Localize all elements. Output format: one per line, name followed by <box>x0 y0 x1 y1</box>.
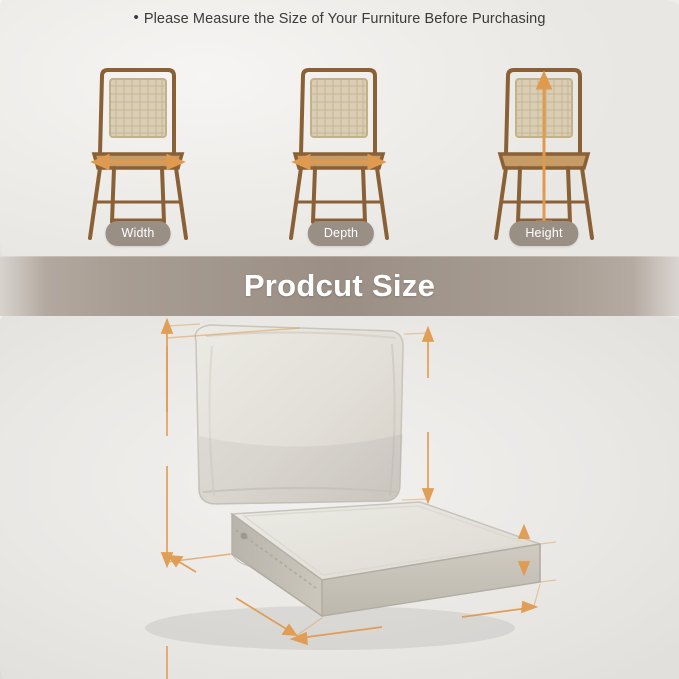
product-size-infographic: •Please Measure the Size of Your Furnitu… <box>0 0 679 679</box>
measure-note: •Please Measure the Size of Your Furnitu… <box>0 10 679 27</box>
chair-tag-width: Width <box>106 221 171 246</box>
chair-depth: Depth <box>231 42 451 252</box>
measure-note-text: Please Measure the Size of Your Furnitur… <box>144 11 546 27</box>
chair-illustrations: Width <box>0 42 679 252</box>
chair-tag-height: Height <box>509 221 578 246</box>
cushion-set-icon <box>0 316 679 679</box>
product-size-section: 27" 21" 6" 24" 24" 6 Inches <box>0 316 679 679</box>
measure-section: •Please Measure the Size of Your Furnitu… <box>0 0 679 256</box>
chair-tag-depth: Depth <box>308 221 374 246</box>
chair-height: Height <box>434 42 654 252</box>
page-title: Prodcut Size <box>244 268 435 304</box>
chair-width: Width <box>28 42 248 252</box>
section-banner: Prodcut Size <box>0 256 679 316</box>
bullet-icon: • <box>133 9 138 26</box>
cushion-illustration: 27" 21" 6" 24" 24" 6 Inches <box>0 316 679 679</box>
